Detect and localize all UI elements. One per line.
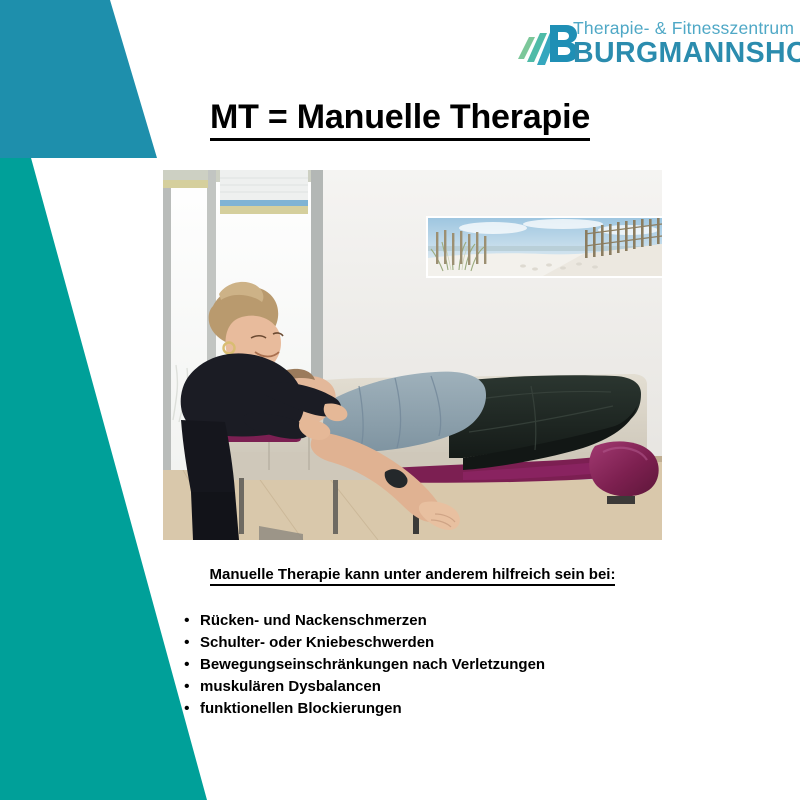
list-item: • Rücken- und Nackenschmerzen xyxy=(184,610,654,632)
logo-tagline: Therapie- & Fitnesszentrum xyxy=(573,18,789,38)
benefits-list: • Rücken- und Nackenschmerzen • Schulter… xyxy=(184,610,654,720)
section-subheading: Manuelle Therapie kann unter anderem hil… xyxy=(163,566,662,583)
list-item: • muskulären Dysbalancen xyxy=(184,676,654,698)
bullet-marker-icon: • xyxy=(184,632,200,654)
page-title: MT = Manuelle Therapie xyxy=(0,98,800,137)
section-subheading-text: Manuelle Therapie kann unter anderem hil… xyxy=(210,566,616,586)
slide-canvas: Therapie- & Fitnesszentrum BURGMANNSHOF … xyxy=(0,0,800,800)
brand-logo: Therapie- & Fitnesszentrum BURGMANNSHOF xyxy=(516,18,788,80)
list-item-label: muskulären Dysbalancen xyxy=(200,676,381,698)
list-item: • Bewegungseinschränkungen nach Verletzu… xyxy=(184,654,654,676)
list-item-label: Bewegungseinschränkungen nach Verletzung… xyxy=(200,654,545,676)
page-title-text: MT = Manuelle Therapie xyxy=(210,98,590,141)
list-item: • funktionellen Blockierungen xyxy=(184,698,654,720)
list-item-label: Rücken- und Nackenschmerzen xyxy=(200,610,427,632)
list-item: • Schulter- oder Kniebeschwerden xyxy=(184,632,654,654)
bullet-marker-icon: • xyxy=(184,610,200,632)
bullet-marker-icon: • xyxy=(184,676,200,698)
logo-wordmark: BURGMANNSHOF xyxy=(573,38,789,69)
treatment-photo-illustration xyxy=(163,170,662,540)
treatment-photo xyxy=(163,170,662,540)
burgmannshof-mark-icon xyxy=(516,21,578,76)
bullet-marker-icon: • xyxy=(184,654,200,676)
list-item-label: funktionellen Blockierungen xyxy=(200,698,402,720)
list-item-label: Schulter- oder Kniebeschwerden xyxy=(200,632,434,654)
bullet-marker-icon: • xyxy=(184,698,200,720)
